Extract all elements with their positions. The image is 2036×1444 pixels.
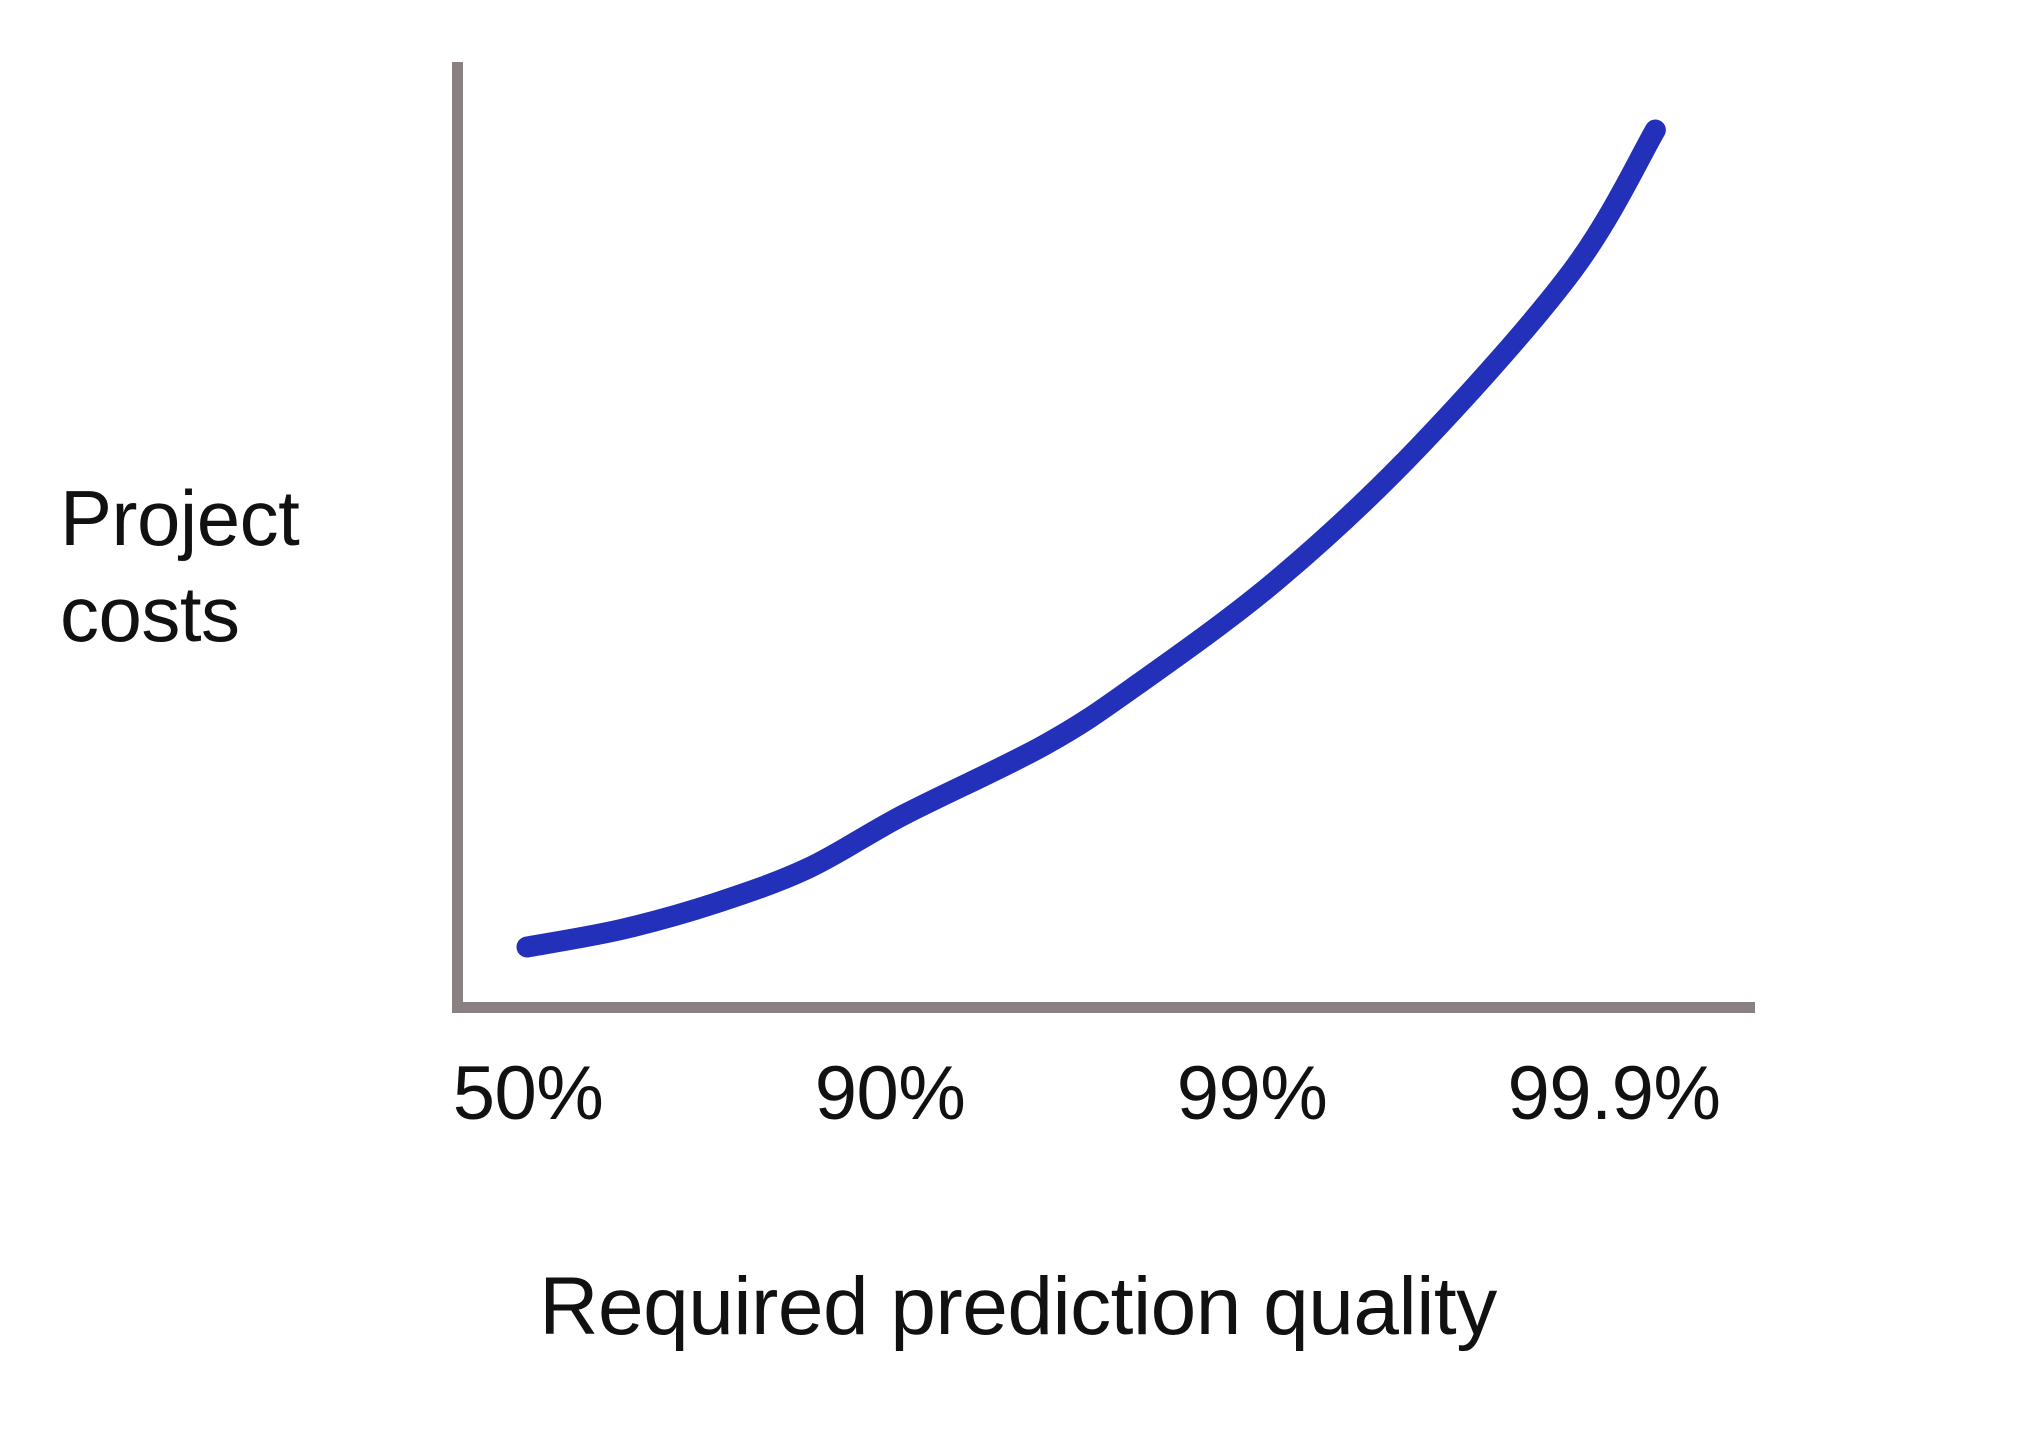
plot-area <box>0 0 2036 1444</box>
x-tick-label-2: 99% <box>1177 1044 1328 1144</box>
chart-figure: Project costs 50% 90% 99% 99.9% Required… <box>0 0 2036 1444</box>
x-tick-label-3: 99.9% <box>1508 1044 1721 1144</box>
x-tick-label-1: 90% <box>815 1044 966 1144</box>
cost-curve-line <box>527 130 1655 947</box>
x-axis-title: Required prediction quality <box>0 1252 2036 1362</box>
x-tick-label-0: 50% <box>453 1044 604 1144</box>
x-axis-tick-labels: 50% 90% 99% 99.9% <box>0 1044 2036 1164</box>
